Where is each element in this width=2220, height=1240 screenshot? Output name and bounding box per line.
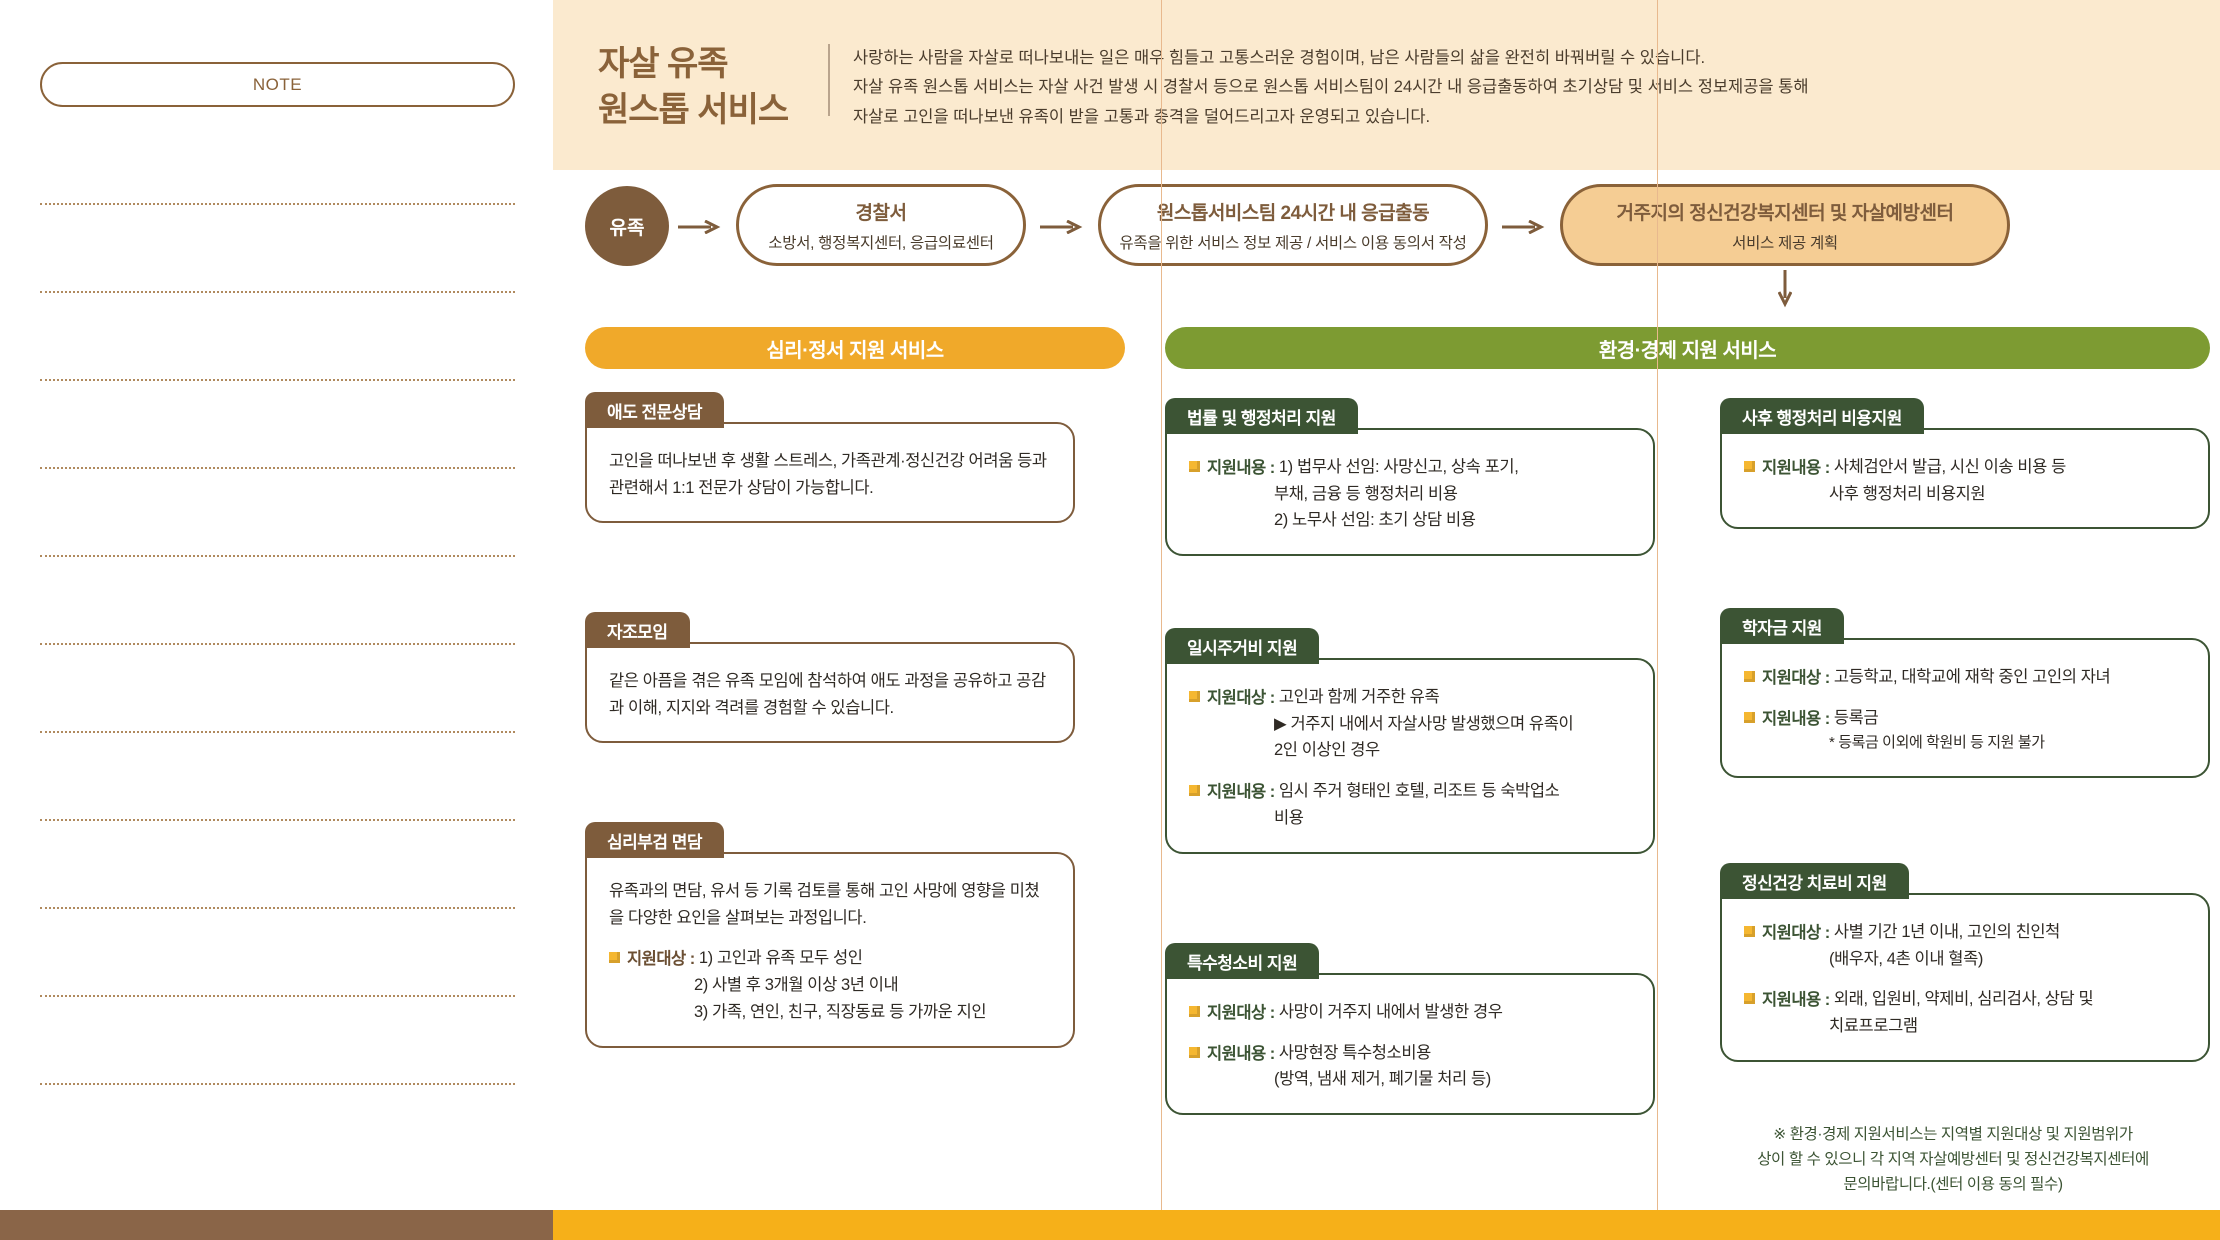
bullet-value: 1) 고인과 유족 모두 성인 [699,945,863,972]
flow-step-3: 거주지의 정신건강복지센터 및 자살예방센터 서비스 제공 계획 [1560,184,2010,266]
flow-arrow-3-icon [1502,220,1548,234]
note-rule-line [40,819,515,821]
bullet-extra-line: 2) 사별 후 3개월 이상 3년 이내 [609,972,1051,999]
bullet-extra-line: (방역, 냄새 제거, 폐기물 처리 등) [1189,1066,1631,1093]
hero-title: 자살 유족 원스톱 서비스 [598,42,813,134]
bullet-extra-line: 2인 이상인 경우 [1189,737,1631,764]
service-card-body: 유족과의 면담, 유서 등 기록 검토를 통해 고인 사망에 영향을 미쳤을 다… [585,852,1075,1048]
flow-step-2: 원스톱서비스팀 24시간 내 응급출동 유족을 위한 서비스 정보 제공 / 서… [1098,184,1488,266]
service-card-bullet-block: 지원내용 : 임시 주거 형태인 호텔, 리조트 등 숙박업소비용 [1189,778,1631,831]
note-rule-line [40,467,515,469]
service-card-tab: 애도 전문상담 [585,392,724,428]
service-card-body: 지원대상 : 고등학교, 대학교에 재학 중인 고인의 자녀지원내용 : 등록금… [1720,638,2210,778]
hero-title-line-1: 자살 유족 [598,42,813,88]
bullet-extra-line: ▶ 거주지 내에서 자살사망 발생했으며 유족이 [1189,711,1631,738]
hero-divider [828,44,830,116]
flow-arrow-1-icon [678,220,724,234]
process-flow: 유족 경찰서 소방서, 행정복지센터, 응급의료센터 원스톱서비스팀 24시간 … [553,182,2220,272]
bullet-value: 사별 기간 1년 이내, 고인의 친인척 [1834,919,2060,946]
bullet-square-icon [1189,1006,1200,1017]
service-card-tab: 특수청소비 지원 [1165,943,1319,979]
service-card-body: 지원대상 : 사별 기간 1년 이내, 고인의 친인척(배우자, 4촌 이내 혈… [1720,893,2210,1062]
hero-description-line-3: 자살로 고인을 떠나보낸 유족이 받을 고통과 충격을 덜어드리고자 운영되고 … [853,103,2033,132]
flow-step-3-title: 거주지의 정신건강복지센터 및 자살예방센터 [1617,198,1954,225]
bullet-extra-line: * 등록금 이외에 학원비 등 지원 불가 [1744,731,2186,755]
bullet-value: 임시 주거 형태인 호텔, 리조트 등 숙박업소 [1279,778,1560,805]
note-rule-line [40,203,515,205]
hero-description: 사랑하는 사람을 자살로 떠나보내는 일은 매우 힘들고 고통스러운 경험이며,… [853,44,2033,132]
service-card-body: 지원대상 : 고인과 함께 거주한 유족▶ 거주지 내에서 자살사망 발생했으며… [1165,658,1655,854]
service-card-tab: 정신건강 치료비 지원 [1720,863,1909,899]
flow-start-node: 유족 [585,186,669,266]
section-bar-psych: 심리·정서 지원 서비스 [585,327,1125,369]
service-card-paragraph: 같은 아픔을 겪은 유족 모임에 참석하여 애도 과정을 공유하고 공감과 이해… [609,668,1051,721]
bullet-label: 지원대상 : [1207,684,1279,708]
bullet-value: 사망이 거주지 내에서 발생한 경우 [1279,999,1503,1026]
bullet-extra-line: 사후 행정처리 비용지원 [1744,481,2186,508]
flow-start-label: 유족 [610,213,645,240]
flow-arrow-2-icon [1040,220,1086,234]
note-rule-line [40,291,515,293]
econ-footnote-line-3: 문의바랍니다.(센터 이용 동의 필수) [1703,1172,2203,1197]
bullet-square-icon [1744,671,1755,682]
service-card-body: 지원내용 : 1) 법무사 선임: 사망신고, 상속 포기,부채, 금융 등 행… [1165,428,1655,556]
section-bar-psych-label: 심리·정서 지원 서비스 [766,334,943,363]
service-card-tab: 사후 행정처리 비용지원 [1720,398,1924,434]
note-rule-line [40,1083,515,1085]
section-bar-econ-label: 환경·경제 지원 서비스 [1599,334,1776,363]
bullet-label: 지원대상 : [1207,999,1279,1023]
service-card-tab: 심리부검 면담 [585,822,724,858]
flow-step-2-sub: 유족을 위한 서비스 정보 제공 / 서비스 이용 동의서 작성 [1119,231,1466,253]
bullet-extra-line: 치료프로그램 [1744,1013,2186,1040]
flow-arrow-down-icon [1778,270,1792,310]
service-card-body: 고인을 떠나보낸 후 생활 스트레스, 가족관계·정신건강 어려움 등과 관련해… [585,422,1075,523]
bullet-value: 고등학교, 대학교에 재학 중인 고인의 자녀 [1834,664,2110,691]
hero-description-line-2: 자살 유족 원스톱 서비스는 자살 사건 발생 시 경찰서 등으로 원스톱 서비… [853,73,2033,102]
service-card-paragraph: 유족과의 면담, 유서 등 기록 검토를 통해 고인 사망에 영향을 미쳤을 다… [609,878,1051,931]
service-card-bullet-block: 지원대상 : 고등학교, 대학교에 재학 중인 고인의 자녀 [1744,664,2186,691]
flow-step-1: 경찰서 소방서, 행정복지센터, 응급의료센터 [736,184,1026,266]
bullet-label: 지원대상 : [1762,919,1834,943]
service-card-body: 지원대상 : 사망이 거주지 내에서 발생한 경우지원내용 : 사망현장 특수청… [1165,973,1655,1115]
bullet-extra-line: 부채, 금융 등 행정처리 비용 [1189,481,1631,508]
note-rule-line [40,555,515,557]
panel-divider-mid [1161,0,1162,1210]
econ-footnote-line-1: ※ 환경·경제 지원서비스는 지역별 지원대상 및 지원범위가 [1703,1122,2203,1147]
bullet-value: 등록금 [1834,705,1878,732]
note-title-pill: NOTE [40,62,515,107]
econ-footnote: ※ 환경·경제 지원서비스는 지역별 지원대상 및 지원범위가 상이 할 수 있… [1703,1122,2203,1197]
service-card-tab: 자조모임 [585,612,690,648]
flow-step-1-sub: 소방서, 행정복지센터, 응급의료센터 [768,231,993,253]
bottom-bar-orange [553,1210,2220,1240]
bullet-extra-line: 3) 가족, 연인, 친구, 직장동료 등 가까운 지인 [609,999,1051,1026]
note-rule-line [40,731,515,733]
service-card-bullet-block: 지원내용 : 사체검안서 발급, 시신 이송 비용 등사후 행정처리 비용지원 [1744,454,2186,507]
note-rule-line [40,907,515,909]
bullet-square-icon [1744,993,1755,1004]
flow-step-1-title: 경찰서 [856,198,907,225]
panel-divider-right [1657,0,1658,1210]
service-card-bullet-block: 지원대상 : 사망이 거주지 내에서 발생한 경우 [1189,999,1631,1026]
bullet-label: 지원내용 : [1762,454,1834,478]
service-card-tab: 학자금 지원 [1720,608,1844,644]
section-bar-econ: 환경·경제 지원 서비스 [1165,327,2210,369]
bullet-label: 지원내용 : [1207,1040,1279,1064]
note-rule-line [40,379,515,381]
service-card-bullet-block: 지원대상 : 사별 기간 1년 이내, 고인의 친인척(배우자, 4촌 이내 혈… [1744,919,2186,972]
service-card-body: 같은 아픔을 겪은 유족 모임에 참석하여 애도 과정을 공유하고 공감과 이해… [585,642,1075,743]
bullet-label: 지원내용 : [1207,454,1279,478]
bullet-extra-line: (배우자, 4촌 이내 혈족) [1744,946,2186,973]
bullet-value: 외래, 입원비, 약제비, 심리검사, 상담 및 [1834,986,2093,1013]
bullet-extra-line: 비용 [1189,805,1631,832]
bullet-label: 지원내용 : [1207,778,1279,802]
bullet-square-icon [1189,691,1200,702]
bullet-extra-line: 2) 노무사 선임: 초기 상담 비용 [1189,507,1631,534]
note-rule-line [40,995,515,997]
service-card-tab: 법률 및 행정처리 지원 [1165,398,1358,434]
hero-description-line-1: 사랑하는 사람을 자살로 떠나보내는 일은 매우 힘들고 고통스러운 경험이며,… [853,44,2033,73]
service-card-bullet-block: 지원대상 : 1) 고인과 유족 모두 성인2) 사별 후 3개월 이상 3년 … [609,945,1051,1025]
bullet-label: 지원대상 : [1762,664,1834,688]
flow-step-2-title: 원스톱서비스팀 24시간 내 응급출동 [1157,198,1429,225]
hero-title-line-2: 원스톱 서비스 [598,88,813,134]
service-card-bullet-block: 지원내용 : 외래, 입원비, 약제비, 심리검사, 상담 및치료프로그램 [1744,986,2186,1039]
bullet-square-icon [1189,461,1200,472]
service-card-bullet-block: 지원내용 : 등록금* 등록금 이외에 학원비 등 지원 불가 [1744,705,2186,756]
service-card-bullet-block: 지원내용 : 1) 법무사 선임: 사망신고, 상속 포기,부채, 금융 등 행… [1189,454,1631,534]
note-title-label: NOTE [253,75,302,95]
bullet-value: 사망현장 특수청소비용 [1279,1040,1431,1067]
bullet-square-icon [609,952,620,963]
bullet-label: 지원대상 : [627,945,699,969]
bullet-value: 사체검안서 발급, 시신 이송 비용 등 [1834,454,2066,481]
bullet-value: 1) 법무사 선임: 사망신고, 상속 포기, [1279,454,1519,481]
note-panel: NOTE [0,0,553,1210]
main-content: 자살 유족 원스톱 서비스 사랑하는 사람을 자살로 떠나보내는 일은 매우 힘… [553,0,2220,1210]
infographic-page: NOTE 자살 유족 원스톱 서비스 사랑하는 사람을 자살로 떠나보내는 일은… [0,0,2220,1240]
bullet-square-icon [1744,712,1755,723]
bullet-value: 고인과 함께 거주한 유족 [1279,684,1439,711]
service-card-paragraph: 고인을 떠나보낸 후 생활 스트레스, 가족관계·정신건강 어려움 등과 관련해… [609,448,1051,501]
note-rule-line [40,643,515,645]
bullet-square-icon [1189,785,1200,796]
service-card-tab: 일시주거비 지원 [1165,628,1319,664]
bullet-square-icon [1744,926,1755,937]
bottom-bar-brown [0,1210,553,1240]
flow-step-3-sub: 서비스 제공 계획 [1732,231,1838,253]
bullet-label: 지원내용 : [1762,986,1834,1010]
service-card-bullet-block: 지원대상 : 고인과 함께 거주한 유족▶ 거주지 내에서 자살사망 발생했으며… [1189,684,1631,764]
service-card-body: 지원내용 : 사체검안서 발급, 시신 이송 비용 등사후 행정처리 비용지원 [1720,428,2210,529]
service-card-bullet-block: 지원내용 : 사망현장 특수청소비용(방역, 냄새 제거, 폐기물 처리 등) [1189,1040,1631,1093]
bullet-square-icon [1744,461,1755,472]
econ-footnote-line-2: 상이 할 수 있으니 각 지역 자살예방센터 및 정신건강복지센터에 [1703,1147,2203,1172]
bullet-label: 지원내용 : [1762,705,1834,729]
bullet-square-icon [1189,1047,1200,1058]
